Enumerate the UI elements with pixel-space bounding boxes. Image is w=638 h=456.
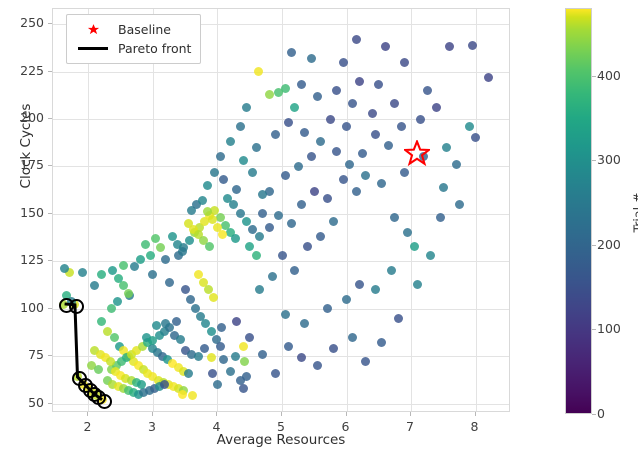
legend-entry-baseline: Baseline (74, 20, 191, 39)
colorbar-tick-label: 0 (597, 406, 605, 421)
x-tick-mark (475, 412, 476, 416)
colorbar-tick-mark (592, 329, 596, 330)
x-tick-mark (87, 412, 88, 416)
x-tick-label: 8 (455, 419, 495, 434)
x-tick-mark (410, 412, 411, 416)
baseline-marker (404, 140, 430, 170)
scatter-plot-figure: Clock Cycles Average Resources Baseline … (0, 0, 638, 456)
colorbar-tick-label: 300 (597, 152, 621, 167)
legend-label-baseline: Baseline (112, 22, 171, 37)
plot-area[interactable] (52, 8, 510, 412)
legend-label-pareto: Pareto front (112, 41, 191, 56)
y-tick-label: 175 (0, 157, 44, 172)
x-tick-mark (346, 412, 347, 416)
y-axis-label: Clock Cycles (18, 76, 34, 216)
x-tick-label: 7 (390, 419, 430, 434)
y-tick-mark (48, 23, 52, 24)
colorbar-label: Trial # (631, 153, 638, 273)
x-tick-label: 6 (326, 419, 366, 434)
x-tick-label: 4 (196, 419, 236, 434)
baseline-star-icon (74, 23, 112, 36)
colorbar-tick-mark (592, 76, 596, 77)
y-tick-label: 75 (0, 347, 44, 362)
y-tick-mark (48, 165, 52, 166)
x-tick-mark (152, 412, 153, 416)
pareto-front-line (53, 9, 510, 412)
y-tick-label: 50 (0, 395, 44, 410)
x-tick-label: 5 (261, 419, 301, 434)
y-tick-mark (48, 71, 52, 72)
y-tick-mark (48, 355, 52, 356)
legend: Baseline Pareto front (66, 14, 201, 64)
y-tick-mark (48, 308, 52, 309)
x-tick-mark (216, 412, 217, 416)
colorbar-tick-label: 400 (597, 68, 621, 83)
x-tick-label: 3 (132, 419, 172, 434)
y-tick-mark (48, 118, 52, 119)
pareto-line-icon (74, 47, 112, 50)
colorbar-tick-label: 200 (597, 237, 621, 252)
legend-entry-pareto: Pareto front (74, 39, 191, 58)
pareto-front-point (97, 394, 112, 409)
y-tick-mark (48, 260, 52, 261)
y-tick-label: 150 (0, 205, 44, 220)
colorbar-tick-label: 100 (597, 321, 621, 336)
x-tick-mark (281, 412, 282, 416)
y-tick-label: 125 (0, 252, 44, 267)
y-tick-label: 200 (0, 110, 44, 125)
y-tick-mark (48, 403, 52, 404)
colorbar-tick-mark (592, 414, 596, 415)
y-tick-mark (48, 213, 52, 214)
x-axis-label: Average Resources (52, 432, 510, 448)
y-tick-label: 100 (0, 300, 44, 315)
colorbar (565, 8, 592, 414)
colorbar-tick-mark (592, 160, 596, 161)
x-tick-label: 2 (67, 419, 107, 434)
y-tick-label: 225 (0, 63, 44, 78)
colorbar-tick-mark (592, 245, 596, 246)
y-tick-label: 250 (0, 15, 44, 30)
